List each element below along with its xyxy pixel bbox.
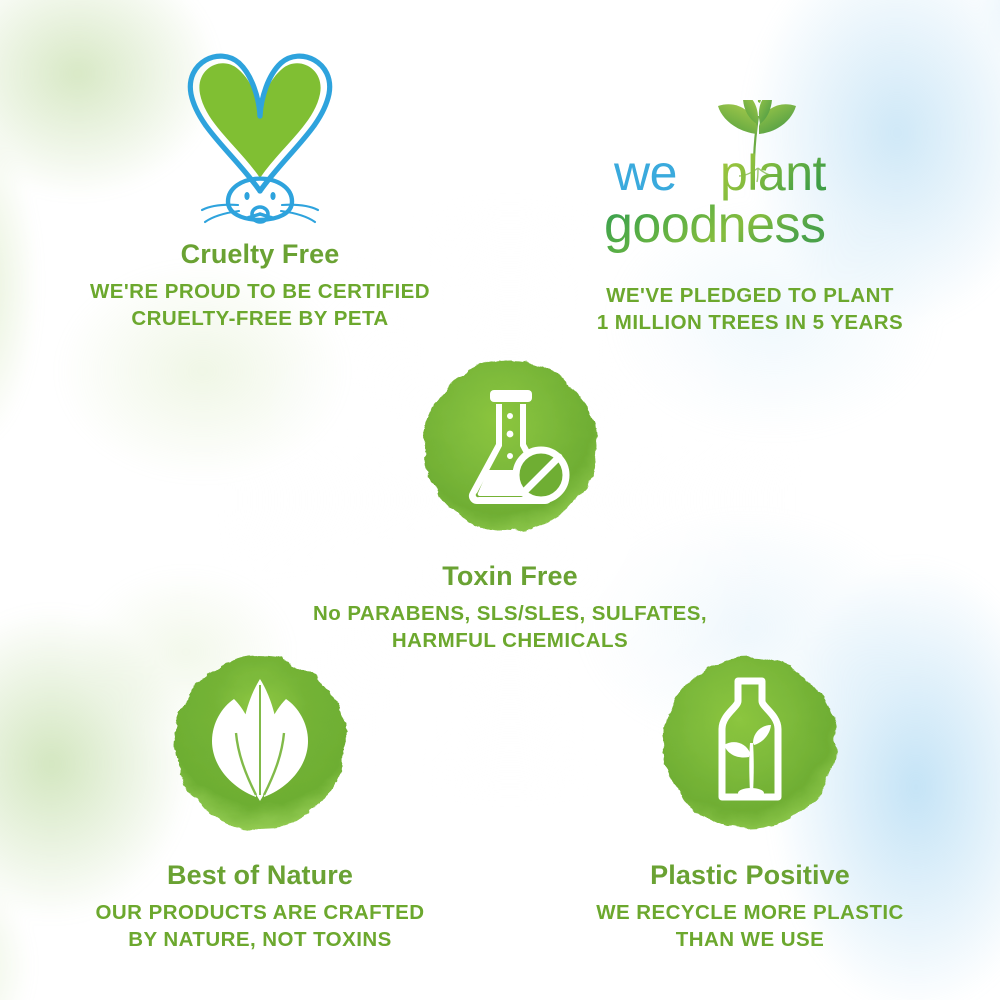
badge-cruelty-free: Cruelty Free WE'RE PROUD TO BE CERTIFIED… (30, 28, 490, 332)
badge-plastic-positive: Plastic Positive WE RECYCLE MORE PLASTIC… (515, 645, 985, 953)
logo-word-we: we (613, 145, 677, 201)
badge-title-cruelty-free: Cruelty Free (30, 240, 490, 270)
watercolor-disc (424, 360, 596, 532)
bunny-whisker-left-2 (205, 211, 239, 222)
bunny-cheek-right (260, 214, 275, 218)
badge-subtext-line-2: 1 MILLION TREES IN 5 YEARS (515, 309, 985, 336)
badge-plant-goodness: we plant goodness WE'VE PLEDGED TO PLANT… (515, 96, 985, 336)
logo-word-plant: plant (720, 145, 827, 201)
badge-subtext-plastic-positive: WE RECYCLE MORE PLASTIC THAN WE USE (515, 899, 985, 953)
no-symbol-glyph (513, 447, 569, 503)
infographic-canvas: Cruelty Free WE'RE PROUD TO BE CERTIFIED… (0, 0, 1000, 1000)
badge-subtext-line-1: WE RECYCLE MORE PLASTIC (515, 899, 985, 926)
bunny-cheek-left (245, 214, 260, 218)
badge-subtext-line-1: OUR PRODUCTS ARE CRAFTED (25, 899, 495, 926)
badge-subtext-line-2: BY NATURE, NOT TOXINS (25, 926, 495, 953)
badge-subtext-cruelty-free: WE'RE PROUD TO BE CERTIFIED CRUELTY-FREE… (30, 278, 490, 332)
badge-toxin-free: Toxin Free No PARABENS, SLS/SLES, SULFAT… (275, 348, 745, 654)
logo-word-goodness: goodness (604, 196, 826, 254)
sprout-stem (749, 743, 754, 793)
peta-bunny-icon (160, 28, 360, 228)
badge-subtext-best-of-nature: OUR PRODUCTS ARE CRAFTED BY NATURE, NOT … (25, 899, 495, 953)
badge-subtext-line-1: WE'VE PLEDGED TO PLANT (515, 282, 985, 309)
badge-title-toxin-free: Toxin Free (275, 562, 745, 592)
badge-title-plastic-positive: Plastic Positive (515, 861, 985, 891)
three-leaves-icon (160, 645, 360, 845)
badge-subtext-line-2: THAN WE USE (515, 926, 985, 953)
flask-no-toxin-icon (410, 348, 610, 548)
bunny-eye-right (270, 192, 275, 200)
badge-title-best-of-nature: Best of Nature (25, 861, 495, 891)
bunny-eye-left (244, 192, 249, 200)
sprout-soil (738, 788, 764, 798)
badge-subtext-line-2: CRUELTY-FREE BY PETA (30, 305, 490, 332)
bunny-whisker-right-2 (281, 211, 315, 222)
badge-subtext-line-1: No PARABENS, SLS/SLES, SULFATES, (275, 600, 745, 627)
badge-subtext-plant-goodness: WE'VE PLEDGED TO PLANT 1 MILLION TREES I… (515, 282, 985, 336)
we-plant-goodness-logo: we plant goodness (515, 100, 985, 260)
heart-fill (199, 63, 320, 178)
badge-subtext-line-1: WE'RE PROUD TO BE CERTIFIED (30, 278, 490, 305)
badge-best-of-nature: Best of Nature OUR PRODUCTS ARE CRAFTED … (25, 645, 495, 953)
bottle-sprout-icon (650, 645, 850, 845)
